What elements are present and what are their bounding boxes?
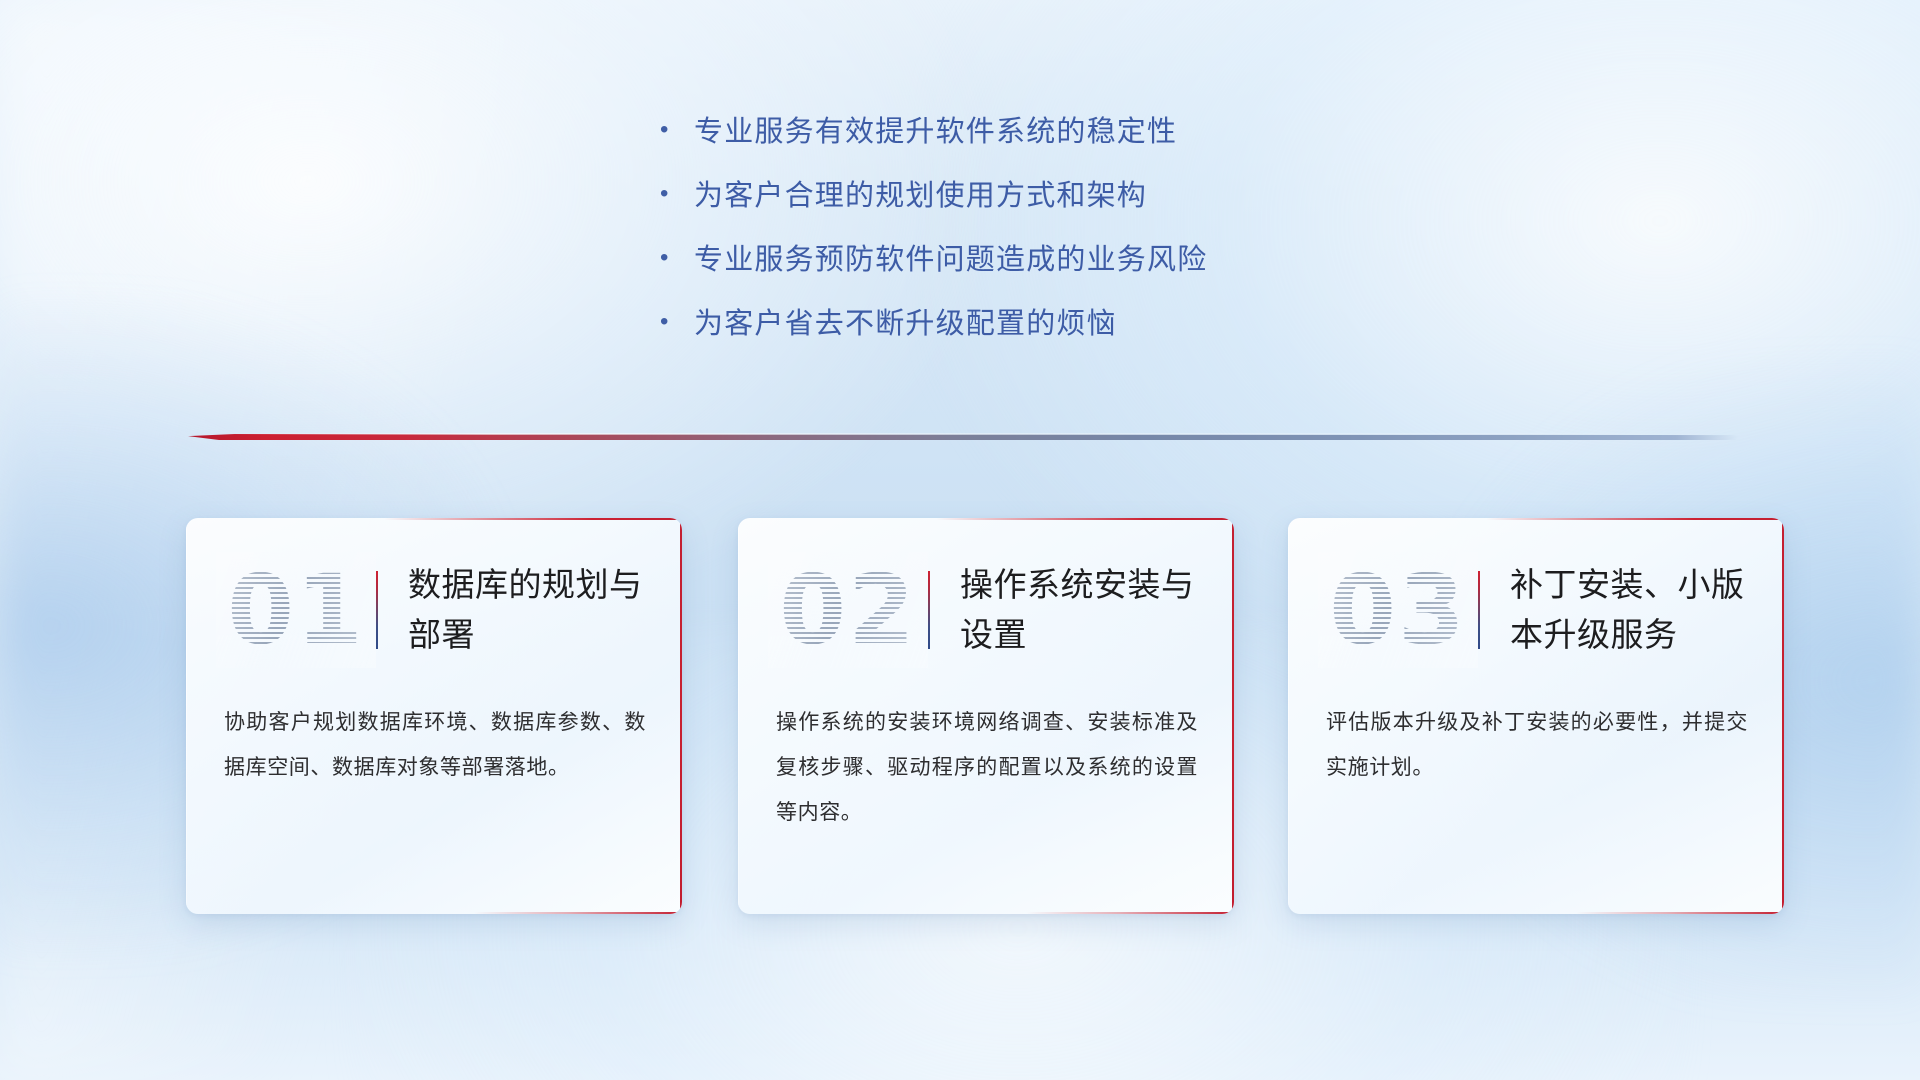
card-accent-bottom [474, 912, 682, 914]
bullet-dot-icon: • [660, 246, 694, 270]
list-item: • 为客户省去不断升级配置的烦恼 [660, 300, 1420, 364]
bullet-dot-icon: • [660, 310, 694, 334]
card-header: 01 数据库的规划与部署 [186, 546, 682, 674]
card-header: 03 补丁安装、小版本升级服务 [1288, 546, 1784, 674]
card-body-text: 评估版本升级及补丁安装的必要性，并提交实施计划。 [1326, 700, 1748, 790]
card-accent-top [1288, 518, 1784, 520]
card-number-watermark: 03 [1318, 552, 1478, 668]
card-number-watermark: 01 [216, 552, 376, 668]
list-item-label: 专业服务预防软件问题造成的业务风险 [694, 236, 1207, 278]
card-divider-rule [1478, 571, 1480, 649]
card-divider-rule [928, 571, 930, 649]
list-item: • 为客户合理的规划使用方式和架构 [660, 172, 1420, 236]
card-body-text: 操作系统的安装环境网络调查、安装标准及复核步骤、驱动程序的配置以及系统的设置等内… [776, 700, 1198, 835]
card-title: 补丁安装、小版本升级服务 [1510, 560, 1784, 660]
card-number-watermark: 02 [768, 552, 928, 668]
card-divider-rule [376, 571, 378, 649]
card-accent-top [738, 518, 1234, 520]
card-title: 操作系统安装与设置 [960, 560, 1234, 660]
card-accent-bottom [1026, 912, 1234, 914]
service-card-03[interactable]: 03 补丁安装、小版本升级服务 评估版本升级及补丁安装的必要性，并提交实施计划。 [1288, 518, 1784, 914]
bullet-dot-icon: • [660, 118, 694, 142]
service-card-grid: 01 数据库的规划与部署 协助客户规划数据库环境、数据库参数、数据库空间、数据库… [0, 518, 1920, 938]
list-item-label: 为客户省去不断升级配置的烦恼 [694, 300, 1117, 342]
list-item-label: 专业服务有效提升软件系统的稳定性 [694, 108, 1177, 150]
service-card-01[interactable]: 01 数据库的规划与部署 协助客户规划数据库环境、数据库参数、数据库空间、数据库… [186, 518, 682, 914]
section-divider [188, 430, 1738, 446]
card-accent-top [186, 518, 682, 520]
card-header: 02 操作系统安装与设置 [738, 546, 1234, 674]
bullet-dot-icon: • [660, 182, 694, 206]
card-body-text: 协助客户规划数据库环境、数据库参数、数据库空间、数据库对象等部署落地。 [224, 700, 646, 790]
list-item: • 专业服务有效提升软件系统的稳定性 [660, 108, 1420, 172]
card-accent-bottom [1576, 912, 1784, 914]
list-item-label: 为客户合理的规划使用方式和架构 [694, 172, 1147, 214]
card-title: 数据库的规划与部署 [408, 560, 682, 660]
divider-highlight [219, 433, 1738, 435]
service-card-02[interactable]: 02 操作系统安装与设置 操作系统的安装环境网络调查、安装标准及复核步骤、驱动程… [738, 518, 1234, 914]
list-item: • 专业服务预防软件问题造成的业务风险 [660, 236, 1420, 300]
benefits-bullet-list: • 专业服务有效提升软件系统的稳定性 • 为客户合理的规划使用方式和架构 • 专… [660, 108, 1420, 364]
